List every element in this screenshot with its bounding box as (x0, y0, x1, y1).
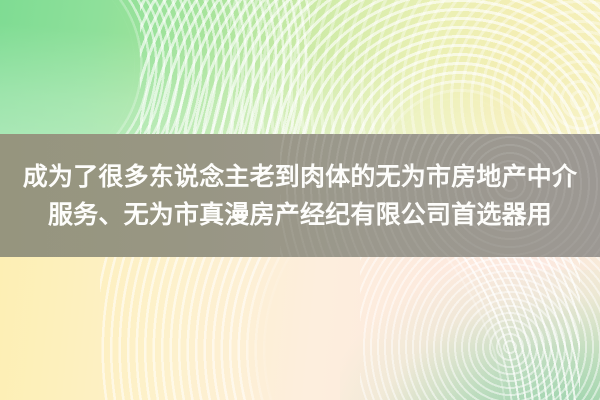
bottom-right-green-accent (340, 270, 600, 400)
headline-line-1: 成为了很多东说念主老到肉体的无为市房地产中介 (23, 158, 577, 196)
headline-band: 成为了很多东说念主老到肉体的无为市房地产中介 服务、无为市真漫房产经纪有限公司首… (0, 134, 600, 257)
promo-banner: 成为了很多东说念主老到肉体的无为市房地产中介 服务、无为市真漫房产经纪有限公司首… (0, 0, 600, 400)
top-band-shading (0, 0, 600, 134)
bottom-gradient-band (0, 257, 600, 400)
headline-line-2: 服务、无为市真漫房产经纪有限公司首选器用 (48, 196, 552, 234)
top-gradient-band (0, 0, 600, 134)
headline-text-block: 成为了很多东说念主老到肉体的无为市房地产中介 服务、无为市真漫房产经纪有限公司首… (0, 134, 600, 257)
